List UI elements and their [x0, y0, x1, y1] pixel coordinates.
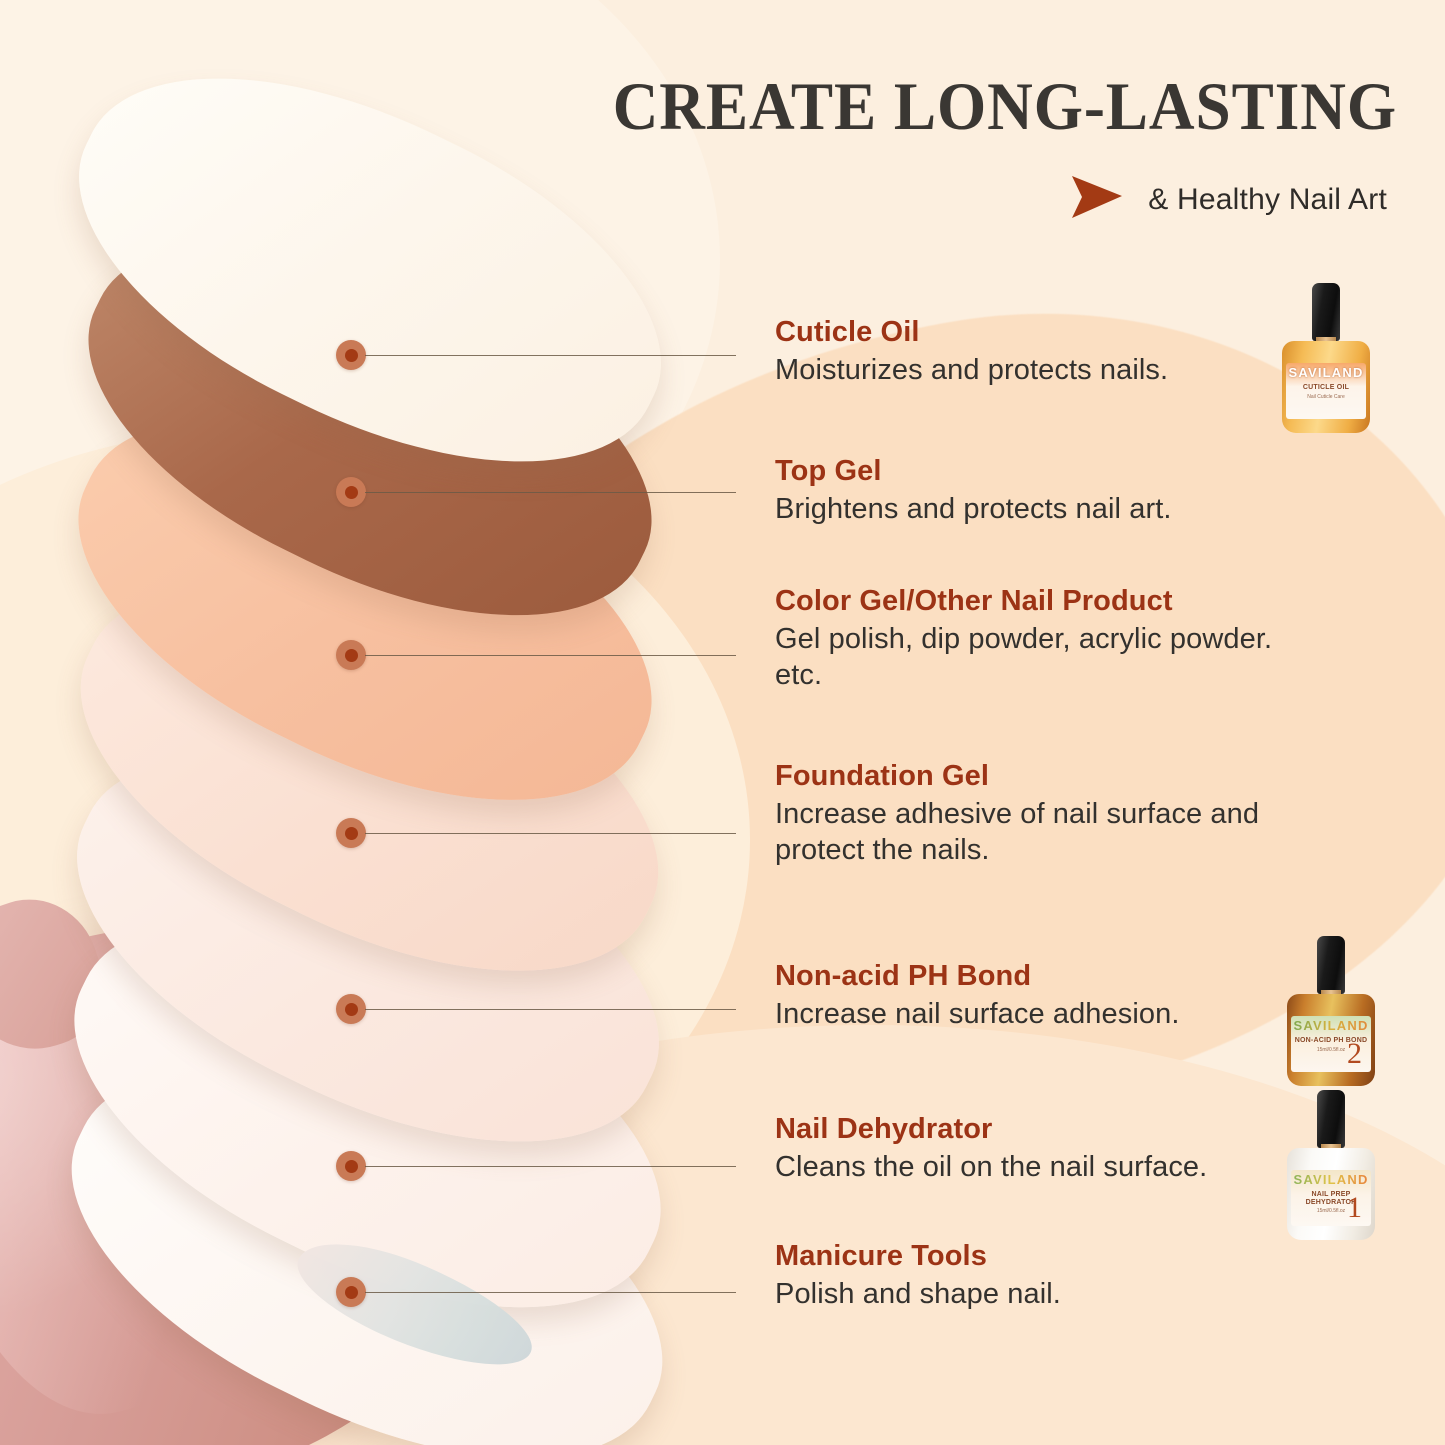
connector-foundation-gel [336, 824, 736, 842]
bottle-step-number: 1 [1347, 1193, 1362, 1223]
product-bottle-ph-bond: SAVILAND NON-ACID PH BOND 15ml/0.5fl.oz … [1287, 936, 1375, 1086]
bottle-label: SAVILAND NAIL PREP DEHYDRATOR 15ml/0.5fl… [1291, 1170, 1371, 1226]
feature-title: Manicure Tools [775, 1240, 1305, 1273]
connector-line-nail-dehydrator [365, 1166, 736, 1167]
bottle-cap-icon [1317, 936, 1345, 994]
bottle-cap-icon [1312, 283, 1340, 341]
connector-manicure-tools [336, 1283, 736, 1301]
feature-foundation-gel: Foundation Gel Increase adhesive of nail… [775, 760, 1305, 868]
bottle-product-sub: 15ml/0.5fl.oz [1317, 1208, 1345, 1214]
bottle-product-sub: 15ml/0.5fl.oz [1317, 1047, 1345, 1053]
subtitle: & Healthy Nail Art [1148, 183, 1387, 217]
bottle-brand: SAVILAND [1288, 366, 1363, 379]
feature-description: Moisturizes and protects nails. [775, 353, 1305, 388]
connector-line-foundation-gel [365, 833, 736, 834]
feature-title: Cuticle Oil [775, 316, 1305, 349]
bottle-body: SAVILAND NON-ACID PH BOND 15ml/0.5fl.oz … [1287, 994, 1375, 1086]
feature-top-gel: Top Gel Brightens and protects nail art. [775, 455, 1305, 528]
marker-dot-ph-bond [336, 994, 366, 1024]
connector-ph-bond [336, 1000, 736, 1018]
page-title: CREATE LONG-LASTING [504, 72, 1397, 140]
bottle-cap-icon [1317, 1090, 1345, 1148]
marker-dot-foundation-gel [336, 818, 366, 848]
marker-dot-top-gel [336, 477, 366, 507]
bottle-body: SAVILAND CUTICLE OIL Nail Cuticle Care [1282, 341, 1370, 433]
feature-title: Color Gel/Other Nail Product [775, 585, 1305, 618]
feature-cuticle-oil: Cuticle Oil Moisturizes and protects nai… [775, 316, 1305, 389]
marker-dot-color-gel [336, 640, 366, 670]
feature-manicure-tools: Manicure Tools Polish and shape nail. [775, 1240, 1305, 1313]
connector-line-cuticle-oil [365, 355, 736, 356]
feature-title: Foundation Gel [775, 760, 1305, 793]
feature-ph-bond: Non-acid PH Bond Increase nail surface a… [775, 960, 1305, 1033]
feature-description: Brightens and protects nail art. [775, 492, 1305, 527]
feature-description: Polish and shape nail. [775, 1277, 1305, 1312]
feature-nail-dehydrator: Nail Dehydrator Cleans the oil on the na… [775, 1113, 1305, 1186]
bottle-brand: SAVILAND [1293, 1173, 1368, 1186]
bottle-product-sub: Nail Cuticle Care [1307, 394, 1345, 400]
product-bottle-nail-dehydrator: SAVILAND NAIL PREP DEHYDRATOR 15ml/0.5fl… [1287, 1090, 1375, 1240]
marker-dot-nail-dehydrator [336, 1151, 366, 1181]
connector-color-gel [336, 646, 736, 664]
feature-description: Cleans the oil on the nail surface. [775, 1150, 1305, 1185]
connector-line-ph-bond [365, 1009, 736, 1010]
product-bottle-cuticle-oil: SAVILAND CUTICLE OIL Nail Cuticle Care [1282, 283, 1370, 433]
marker-dot-cuticle-oil [336, 340, 366, 370]
feature-title: Non-acid PH Bond [775, 960, 1305, 993]
connector-top-gel [336, 483, 736, 501]
header: CREATE LONG-LASTING & Healthy Nail Art [437, 72, 1397, 225]
bottle-label: SAVILAND NON-ACID PH BOND 15ml/0.5fl.oz … [1291, 1016, 1371, 1072]
infographic-canvas: CREATE LONG-LASTING & Healthy Nail Art C… [0, 0, 1445, 1445]
connector-cuticle-oil [336, 346, 736, 364]
bottle-body: SAVILAND NAIL PREP DEHYDRATOR 15ml/0.5fl… [1287, 1148, 1375, 1240]
subtitle-row: & Healthy Nail Art [437, 174, 1397, 225]
connector-line-color-gel [365, 655, 736, 656]
bottle-product-name: CUTICLE OIL [1303, 384, 1349, 392]
feature-title: Top Gel [775, 455, 1305, 488]
connector-nail-dehydrator [336, 1157, 736, 1175]
feature-title: Nail Dehydrator [775, 1113, 1305, 1146]
arrow-right-icon [1068, 174, 1126, 225]
bottle-brand: SAVILAND [1293, 1019, 1368, 1032]
feature-description: Increase nail surface adhesion. [775, 997, 1305, 1032]
marker-dot-manicure-tools [336, 1277, 366, 1307]
bottle-label: SAVILAND CUTICLE OIL Nail Cuticle Care [1286, 363, 1366, 419]
feature-description: Increase adhesive of nail surface and pr… [775, 797, 1305, 868]
connector-line-manicure-tools [365, 1292, 736, 1293]
bottle-step-number: 2 [1347, 1039, 1362, 1069]
feature-color-gel: Color Gel/Other Nail Product Gel polish,… [775, 585, 1305, 693]
connector-line-top-gel [365, 492, 736, 493]
feature-description: Gel polish, dip powder, acrylic powder. … [775, 622, 1305, 693]
